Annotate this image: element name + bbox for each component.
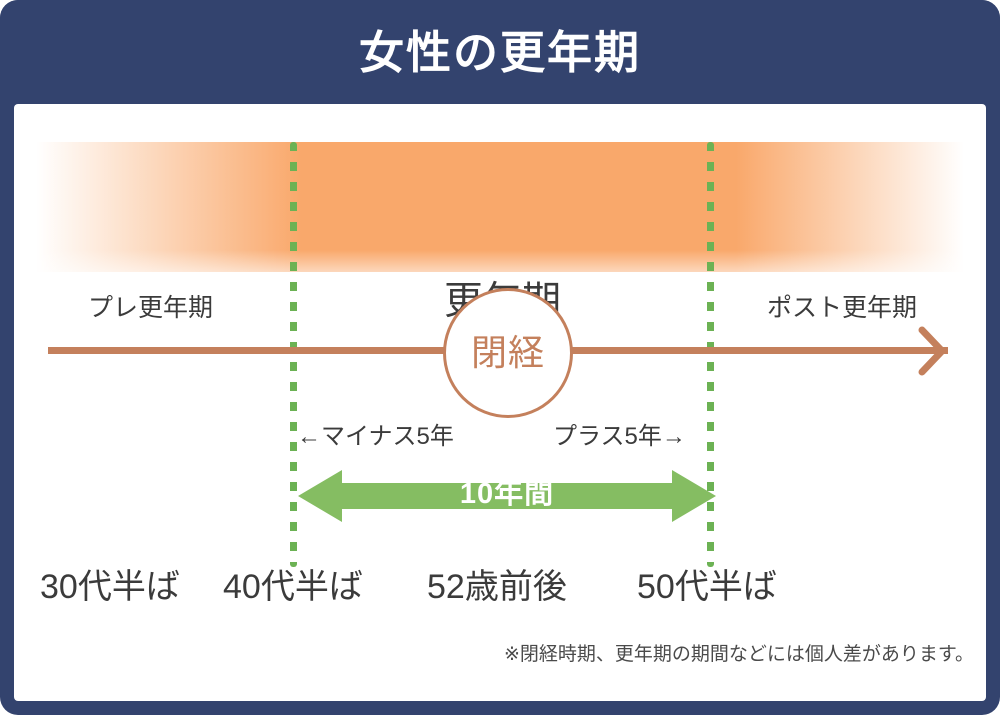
age-scale-label-2: 52歳前後: [427, 570, 567, 604]
menopause-event-label: 閉経: [471, 335, 545, 371]
span-note-minus-five-years: ←マイナス5年: [297, 425, 454, 449]
span-note-plus-five-years: プラス5年→: [553, 425, 686, 449]
arrow-right-icon: [918, 326, 946, 376]
footnote-text: ※閉経時期、更年期の期間などには個人差があります。: [504, 645, 974, 664]
page-title: 女性の更年期: [359, 30, 641, 75]
phase-gradient-band: [36, 142, 964, 272]
boundary-line-start: [290, 142, 297, 567]
phase-label-pre: プレ更年期: [88, 296, 213, 321]
age-scale-label-0: 30代半ば: [40, 570, 180, 604]
age-scale-label-1: 40代半ば: [223, 570, 363, 604]
menopause-infographic: 女性の更年期 プレ更年期 更年期 ポスト更年期 閉経 ←マイナス5年 プラス5年…: [0, 0, 1000, 715]
title-bar: 女性の更年期: [0, 0, 1000, 104]
age-scale-label-3: 50代半ば: [637, 570, 777, 604]
phase-label-post: ポスト更年期: [767, 296, 917, 321]
menopause-event-marker: 閉経: [443, 288, 573, 418]
duration-label: 10年間: [298, 480, 716, 509]
